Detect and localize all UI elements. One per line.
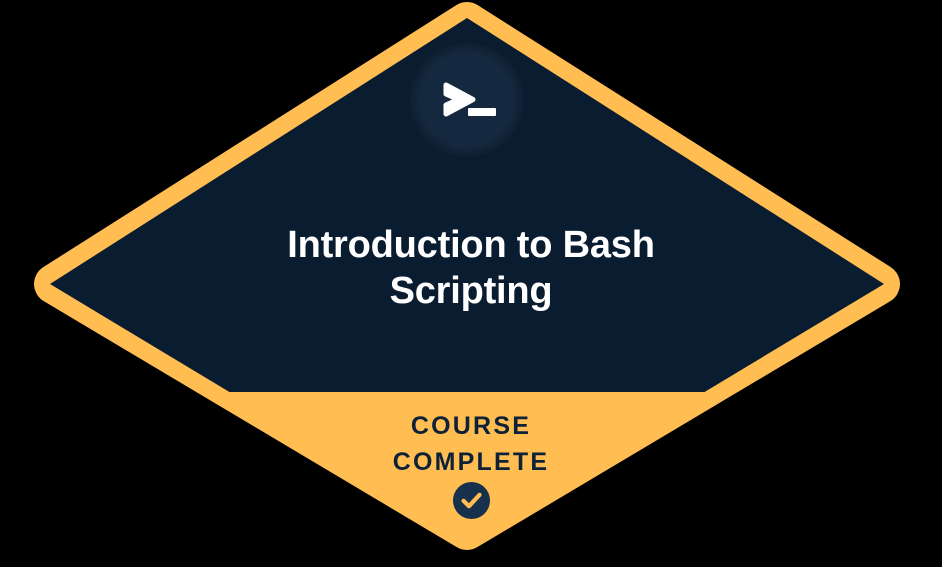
- check-circle-icon: [453, 482, 490, 519]
- terminal-underscore-icon: [468, 108, 496, 116]
- check-badge-container: [0, 482, 942, 519]
- badge-canvas: Introduction to Bash Scripting COURSE CO…: [0, 0, 942, 567]
